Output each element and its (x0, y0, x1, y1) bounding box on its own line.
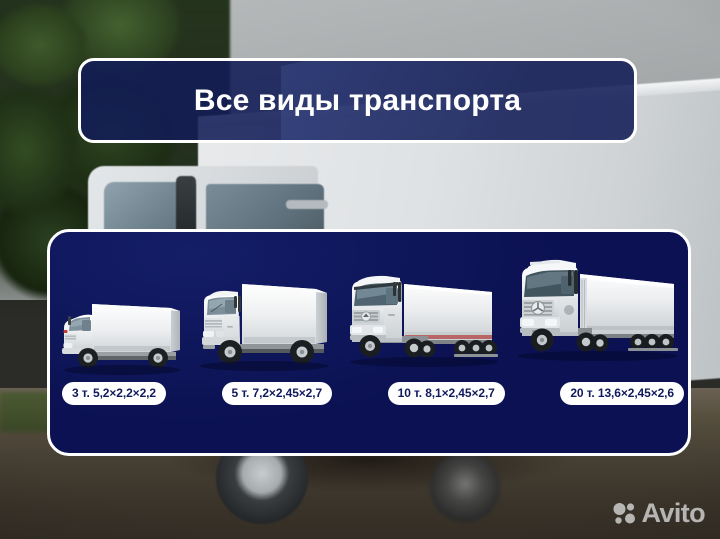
vehicle-labels: 3 т. 5,2×2,2×2,2 5 т. 7,2×2,45×2,7 10 т.… (50, 382, 688, 405)
title-banner: Все виды транспорта (78, 58, 637, 143)
vehicle-item-3 (510, 254, 682, 378)
vehicle-item-1 (194, 274, 334, 378)
page-title: Все виды транспорта (194, 84, 521, 118)
vehicle-label-0: 3 т. 5,2×2,2×2,2 (62, 382, 166, 405)
avito-wordmark: Avito (642, 500, 706, 527)
medium-box-truck-icon (194, 274, 334, 378)
vehicle-types-panel: 3 т. 5,2×2,2×2,2 5 т. 7,2×2,45×2,7 10 т.… (47, 229, 691, 456)
vehicle-label-1: 5 т. 7,2×2,45×2,7 (222, 382, 333, 405)
vehicle-label-2: 10 т. 8,1×2,45×2,7 (388, 382, 505, 405)
vehicle-label-3: 20 т. 13,6×2,45×2,6 (560, 382, 684, 405)
avito-dots-logo-icon (611, 501, 637, 527)
promo-image: Все виды транспорта (0, 0, 720, 539)
vehicle-illustrations (50, 238, 688, 378)
maz-tractor-semitrailer-icon (342, 262, 502, 378)
vehicle-item-2 (342, 262, 502, 378)
actros-tractor-semitrailer-icon (510, 254, 682, 378)
avito-watermark: Avito (611, 500, 706, 527)
gazelle-box-truck-icon (58, 286, 186, 378)
vehicle-item-0 (58, 286, 186, 378)
